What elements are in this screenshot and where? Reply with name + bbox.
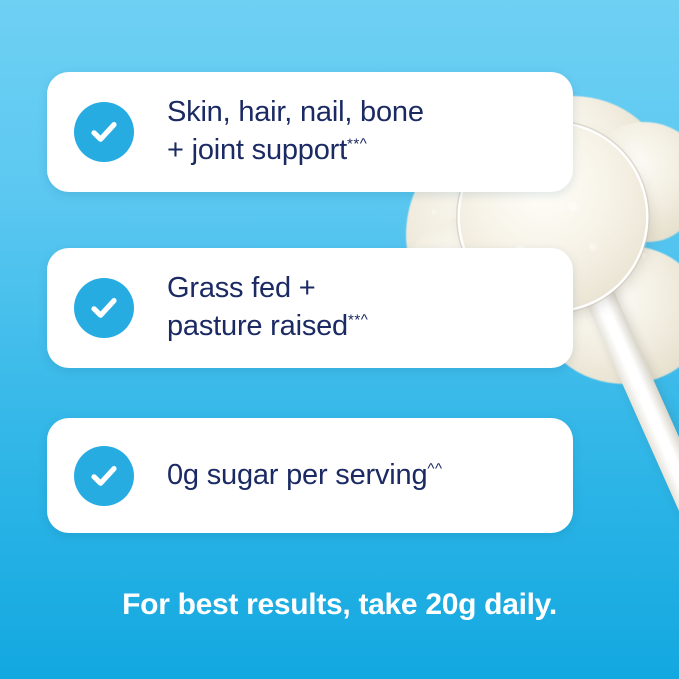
product-benefits-graphic: Skin, hair, nail, bone + joint support**… <box>0 0 679 679</box>
footer-tagline: For best results, take 20g daily. <box>0 588 679 622</box>
benefit-footnote-marker: **^ <box>347 135 367 152</box>
scoop-handle <box>575 266 679 552</box>
benefit-card: 0g sugar per serving^^ <box>47 418 573 533</box>
check-icon <box>74 102 134 162</box>
benefit-text: Skin, hair, nail, bone + joint support**… <box>167 94 424 169</box>
check-icon <box>74 278 134 338</box>
powder-mound <box>584 122 679 242</box>
benefit-text: 0g sugar per serving^^ <box>167 457 443 495</box>
benefit-card: Grass fed + pasture raised**^ <box>47 248 573 368</box>
check-icon <box>74 446 134 506</box>
benefit-footnote-marker: **^ <box>348 311 368 328</box>
benefit-footnote-marker: ^^ <box>427 460 442 477</box>
benefit-label: Grass fed + pasture raised <box>167 272 348 342</box>
benefit-label: 0g sugar per serving <box>167 459 427 491</box>
benefit-card: Skin, hair, nail, bone + joint support**… <box>47 72 573 192</box>
benefit-text: Grass fed + pasture raised**^ <box>167 270 368 345</box>
benefit-label: Skin, hair, nail, bone + joint support <box>167 96 424 166</box>
